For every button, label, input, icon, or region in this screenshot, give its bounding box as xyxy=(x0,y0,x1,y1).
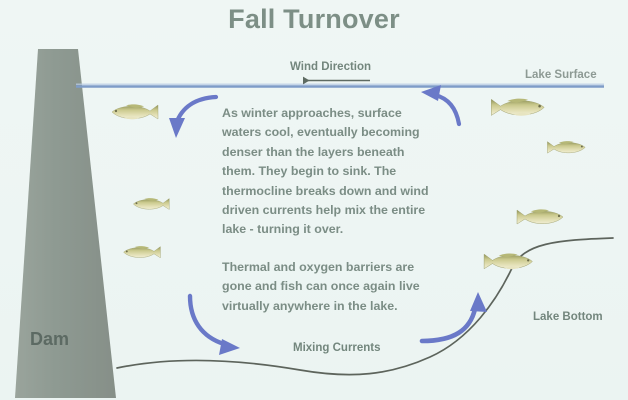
lake-bottom-label: Lake Bottom xyxy=(533,312,603,324)
lake-surface-line xyxy=(76,84,604,86)
fish-left-lower xyxy=(124,246,161,258)
mixing-currents-label: Mixing Currents xyxy=(293,343,381,355)
fish-left-upper xyxy=(112,104,158,119)
fish-left-mid xyxy=(133,198,169,209)
fish-right-lower xyxy=(484,253,532,269)
current-arrow-lower-right xyxy=(422,292,487,341)
fish-right-upper-small xyxy=(547,141,585,153)
current-arrow-upper-left xyxy=(169,97,216,138)
dam-label: Dam xyxy=(30,330,69,348)
description-paragraph-1: As winter approaches, surface waters coo… xyxy=(222,104,432,240)
fish-right-upper-large xyxy=(491,99,544,116)
fish-right-mid xyxy=(517,209,563,224)
page-title: Fall Turnover xyxy=(0,6,628,33)
description-paragraph-2: Thermal and oxygen barriers are gone and… xyxy=(222,258,427,316)
wind-direction-label: Wind Direction xyxy=(290,62,371,74)
lake-surface-label: Lake Surface xyxy=(525,70,597,82)
fall-turnover-diagram: Fall Turnover Wind Direction Lake Surfac… xyxy=(0,0,628,400)
